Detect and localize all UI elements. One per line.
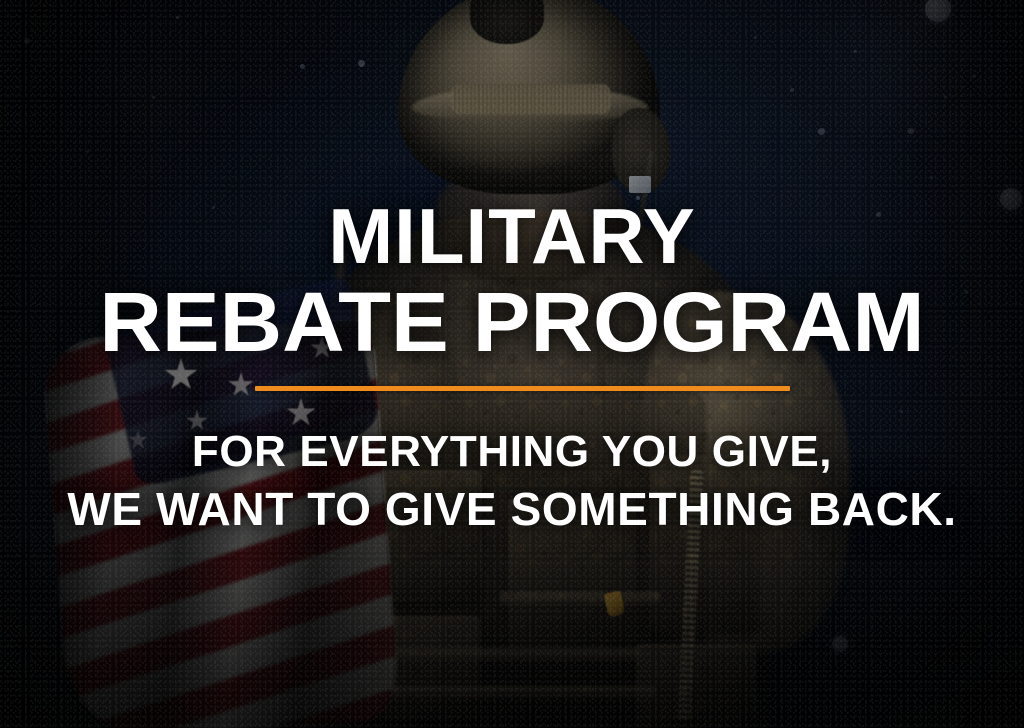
accent-divider-rule [255, 386, 790, 391]
military-rebate-banner: MILITARY REBATE PROGRAM FOR EVERYTHING Y… [0, 0, 1024, 728]
headline-line-2: REBATE PROGRAM [0, 281, 1024, 363]
subheadline-line-1: FOR EVERYTHING YOU GIVE, [0, 430, 1024, 474]
subheadline-line-2: WE WANT TO GIVE SOMETHING BACK. [0, 486, 1024, 532]
headline-line-1: MILITARY [0, 198, 1024, 274]
banner-content: MILITARY REBATE PROGRAM FOR EVERYTHING Y… [0, 0, 1024, 728]
